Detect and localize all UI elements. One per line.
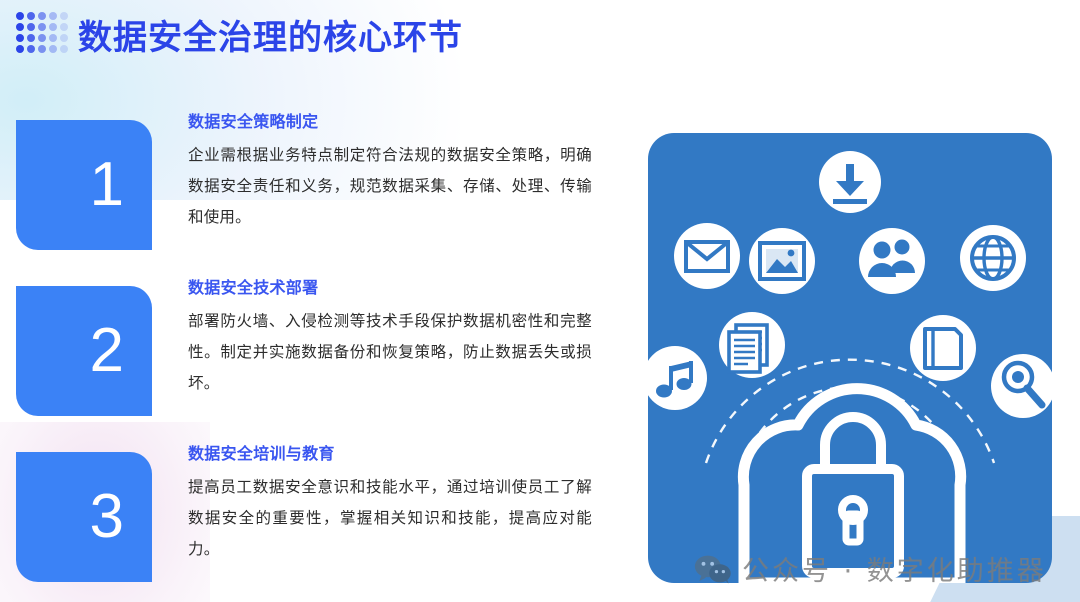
step-item: 2 数据安全技术部署 部署防火墙、入侵检测等技术手段保护数据机密性和完整性。制定… [0,278,620,444]
download-icon [819,151,881,213]
step-body: 数据安全技术部署 部署防火墙、入侵检测等技术手段保护数据机密性和完整性。制定并实… [188,278,592,399]
step-title: 数据安全培训与教育 [188,444,592,466]
step-number: 3 [90,486,124,548]
slide-root: 数据安全治理的核心环节 1 数据安全策略制定 企业需根据业务特点制定符合法规的数… [0,0,1080,602]
step-title: 数据安全技术部署 [188,278,592,300]
step-body: 数据安全策略制定 企业需根据业务特点制定符合法规的数据安全策略，明确数据安全责任… [188,112,592,233]
step-description: 部署防火墙、入侵检测等技术手段保护数据机密性和完整性。制定并实施数据备份和恢复策… [188,306,592,399]
step-title: 数据安全策略制定 [188,112,592,134]
globe-icon [960,225,1026,291]
music-note-icon [648,346,707,410]
slide-header: 数据安全治理的核心环节 [0,0,1080,82]
step-number-badge: 2 [16,286,152,416]
step-item: 1 数据安全策略制定 企业需根据业务特点制定符合法规的数据安全策略，明确数据安全… [0,112,620,278]
step-number-badge: 3 [16,452,152,582]
dot-grid-decoration [16,12,71,56]
step-description: 企业需根据业务特点制定符合法规的数据安全策略，明确数据安全责任和义务，规范数据采… [188,140,592,233]
page-title: 数据安全治理的核心环节 [78,14,463,62]
magnifier-icon [991,354,1052,418]
step-list: 1 数据安全策略制定 企业需根据业务特点制定符合法规的数据安全策略，明确数据安全… [0,112,620,602]
step-description: 提高员工数据安全意识和技能水平，通过培训使员工了解数据安全的重要性，掌握相关知识… [188,472,592,565]
image-icon [749,228,815,294]
document-icon [719,312,785,378]
envelope-icon [674,223,740,289]
folder-icon [910,315,976,381]
step-number-badge: 1 [16,120,152,250]
step-number: 2 [90,320,124,382]
step-body: 数据安全培训与教育 提高员工数据安全意识和技能水平，通过培训使员工了解数据安全的… [188,444,592,565]
step-item: 3 数据安全培训与教育 提高员工数据安全意识和技能水平，通过培训使员工了解数据安… [0,444,620,602]
illustration-panel [648,133,1052,583]
step-number: 1 [90,154,124,216]
users-icon [859,228,925,294]
